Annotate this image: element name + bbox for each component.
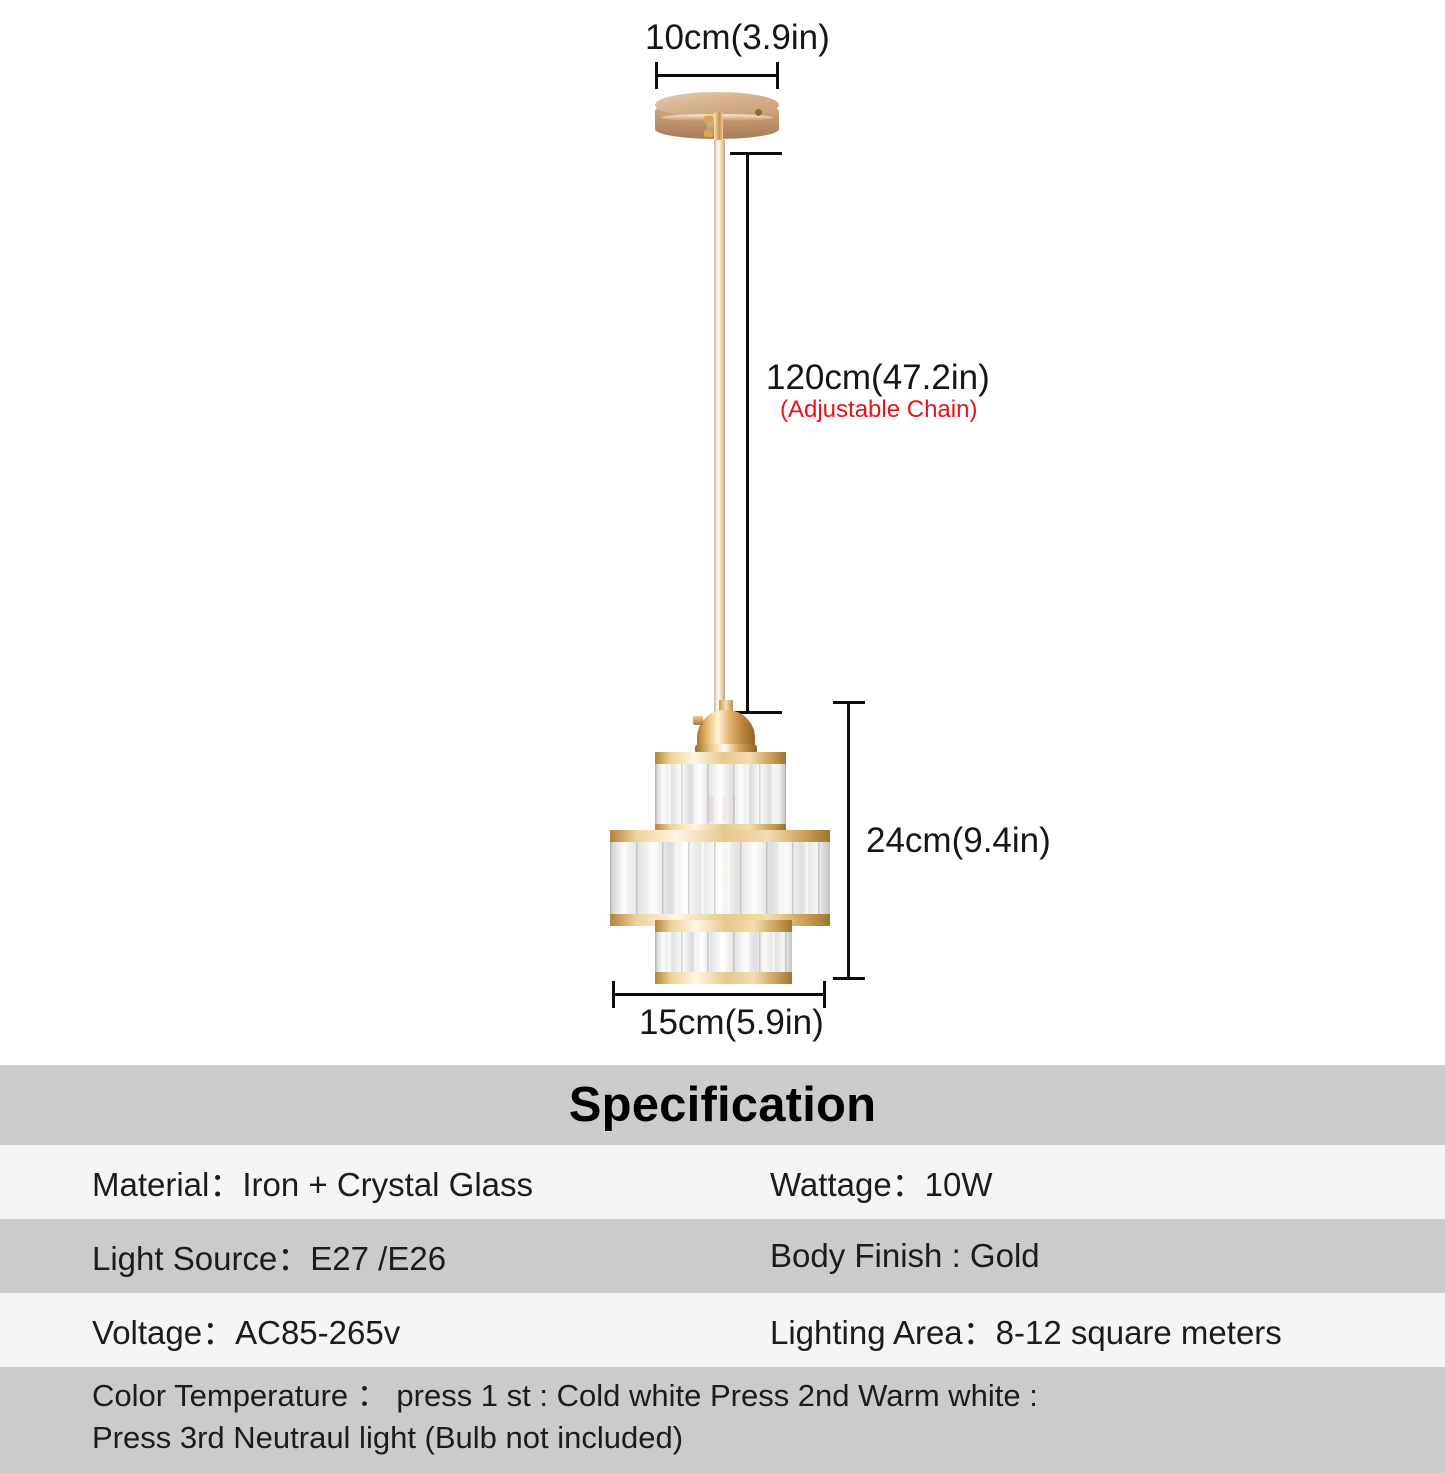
spec-row-material: Material：Iron + Crystal Glass Wattage：10…: [0, 1145, 1445, 1219]
tier-middle-glass: [610, 839, 830, 919]
canopy-width-label: 10cm(3.9in): [645, 20, 830, 55]
canopy-width-line: [655, 74, 779, 77]
chain-adjustable-note: (Adjustable Chain): [780, 398, 977, 422]
canopy-bracket: [714, 112, 723, 142]
crystal-tier-middle: [610, 830, 830, 926]
spec-row-color-temperature: Color Temperature ： press 1 st : Cold wh…: [0, 1367, 1445, 1473]
canopy-width-cap-left: [655, 62, 658, 89]
fixture-height-label: 24cm(9.4in): [866, 823, 1051, 858]
crystal-tier-bottom: [655, 920, 792, 984]
spec-light-source: Light Source：E27 /E26: [0, 1232, 715, 1280]
tier-bottom-prisms: [655, 928, 792, 976]
canopy-nut-upper: [704, 116, 713, 123]
specification-section: Specification Material：Iron + Crystal Gl…: [0, 1065, 1445, 1473]
canopy-nut-lower: [704, 130, 713, 137]
socket-knob: [693, 716, 703, 725]
width-cap-left: [612, 981, 615, 1008]
chain-length-label: 120cm(47.2in): [766, 360, 990, 395]
height-dimension-line: [847, 701, 850, 980]
spec-row-voltage: Voltage：AC85-265v Lighting Area：8-12 squ…: [0, 1293, 1445, 1367]
tier-middle-rim-upper: [610, 830, 830, 842]
specification-title: Specification: [569, 1077, 877, 1133]
specification-header: Specification: [0, 1065, 1445, 1145]
tier-top-glass: [655, 761, 786, 829]
spec-wattage: Wattage：10W: [715, 1158, 1445, 1206]
lamp-socket: [697, 700, 755, 758]
product-illustration: 10cm(3.9in) 120cm(47.2in) (Adjustable Ch…: [0, 0, 1445, 1065]
fixture-width-label: 15cm(5.9in): [639, 1005, 824, 1040]
spec-material: Material：Iron + Crystal Glass: [0, 1158, 715, 1206]
ceiling-canopy: [655, 92, 779, 146]
spec-lighting-area: Lighting Area：8-12 square meters: [715, 1306, 1445, 1354]
spec-color-temperature-line2: Press 3rd Neutraul light (Bulb not inclu…: [92, 1417, 1445, 1459]
crystal-tier-top: [655, 752, 786, 836]
tier-middle-prisms: [610, 839, 830, 919]
spec-body-finish: Body Finish : Gold: [715, 1237, 1445, 1275]
spec-color-temperature-line1: Color Temperature ： press 1 st : Cold wh…: [92, 1375, 1445, 1417]
crystal-shade: [610, 752, 830, 984]
chain-cap-top: [730, 152, 782, 155]
canopy-width-cap-right: [776, 62, 779, 89]
spec-voltage: Voltage：AC85-265v: [0, 1306, 715, 1354]
tier-top-rim-upper: [655, 752, 786, 764]
height-cap-bottom: [833, 977, 865, 980]
width-dimension-line: [612, 993, 826, 996]
chain-dimension-line: [746, 152, 749, 714]
spec-row-light-source: Light Source：E27 /E26 Body Finish : Gold: [0, 1219, 1445, 1293]
tier-bottom-glass: [655, 928, 792, 976]
suspension-rod: [714, 140, 725, 715]
canopy-screw-hole: [755, 109, 762, 116]
tier-top-prisms: [655, 761, 786, 829]
tier-bottom-rim-upper: [655, 920, 792, 932]
tier-bottom-rim-lower: [655, 972, 792, 984]
